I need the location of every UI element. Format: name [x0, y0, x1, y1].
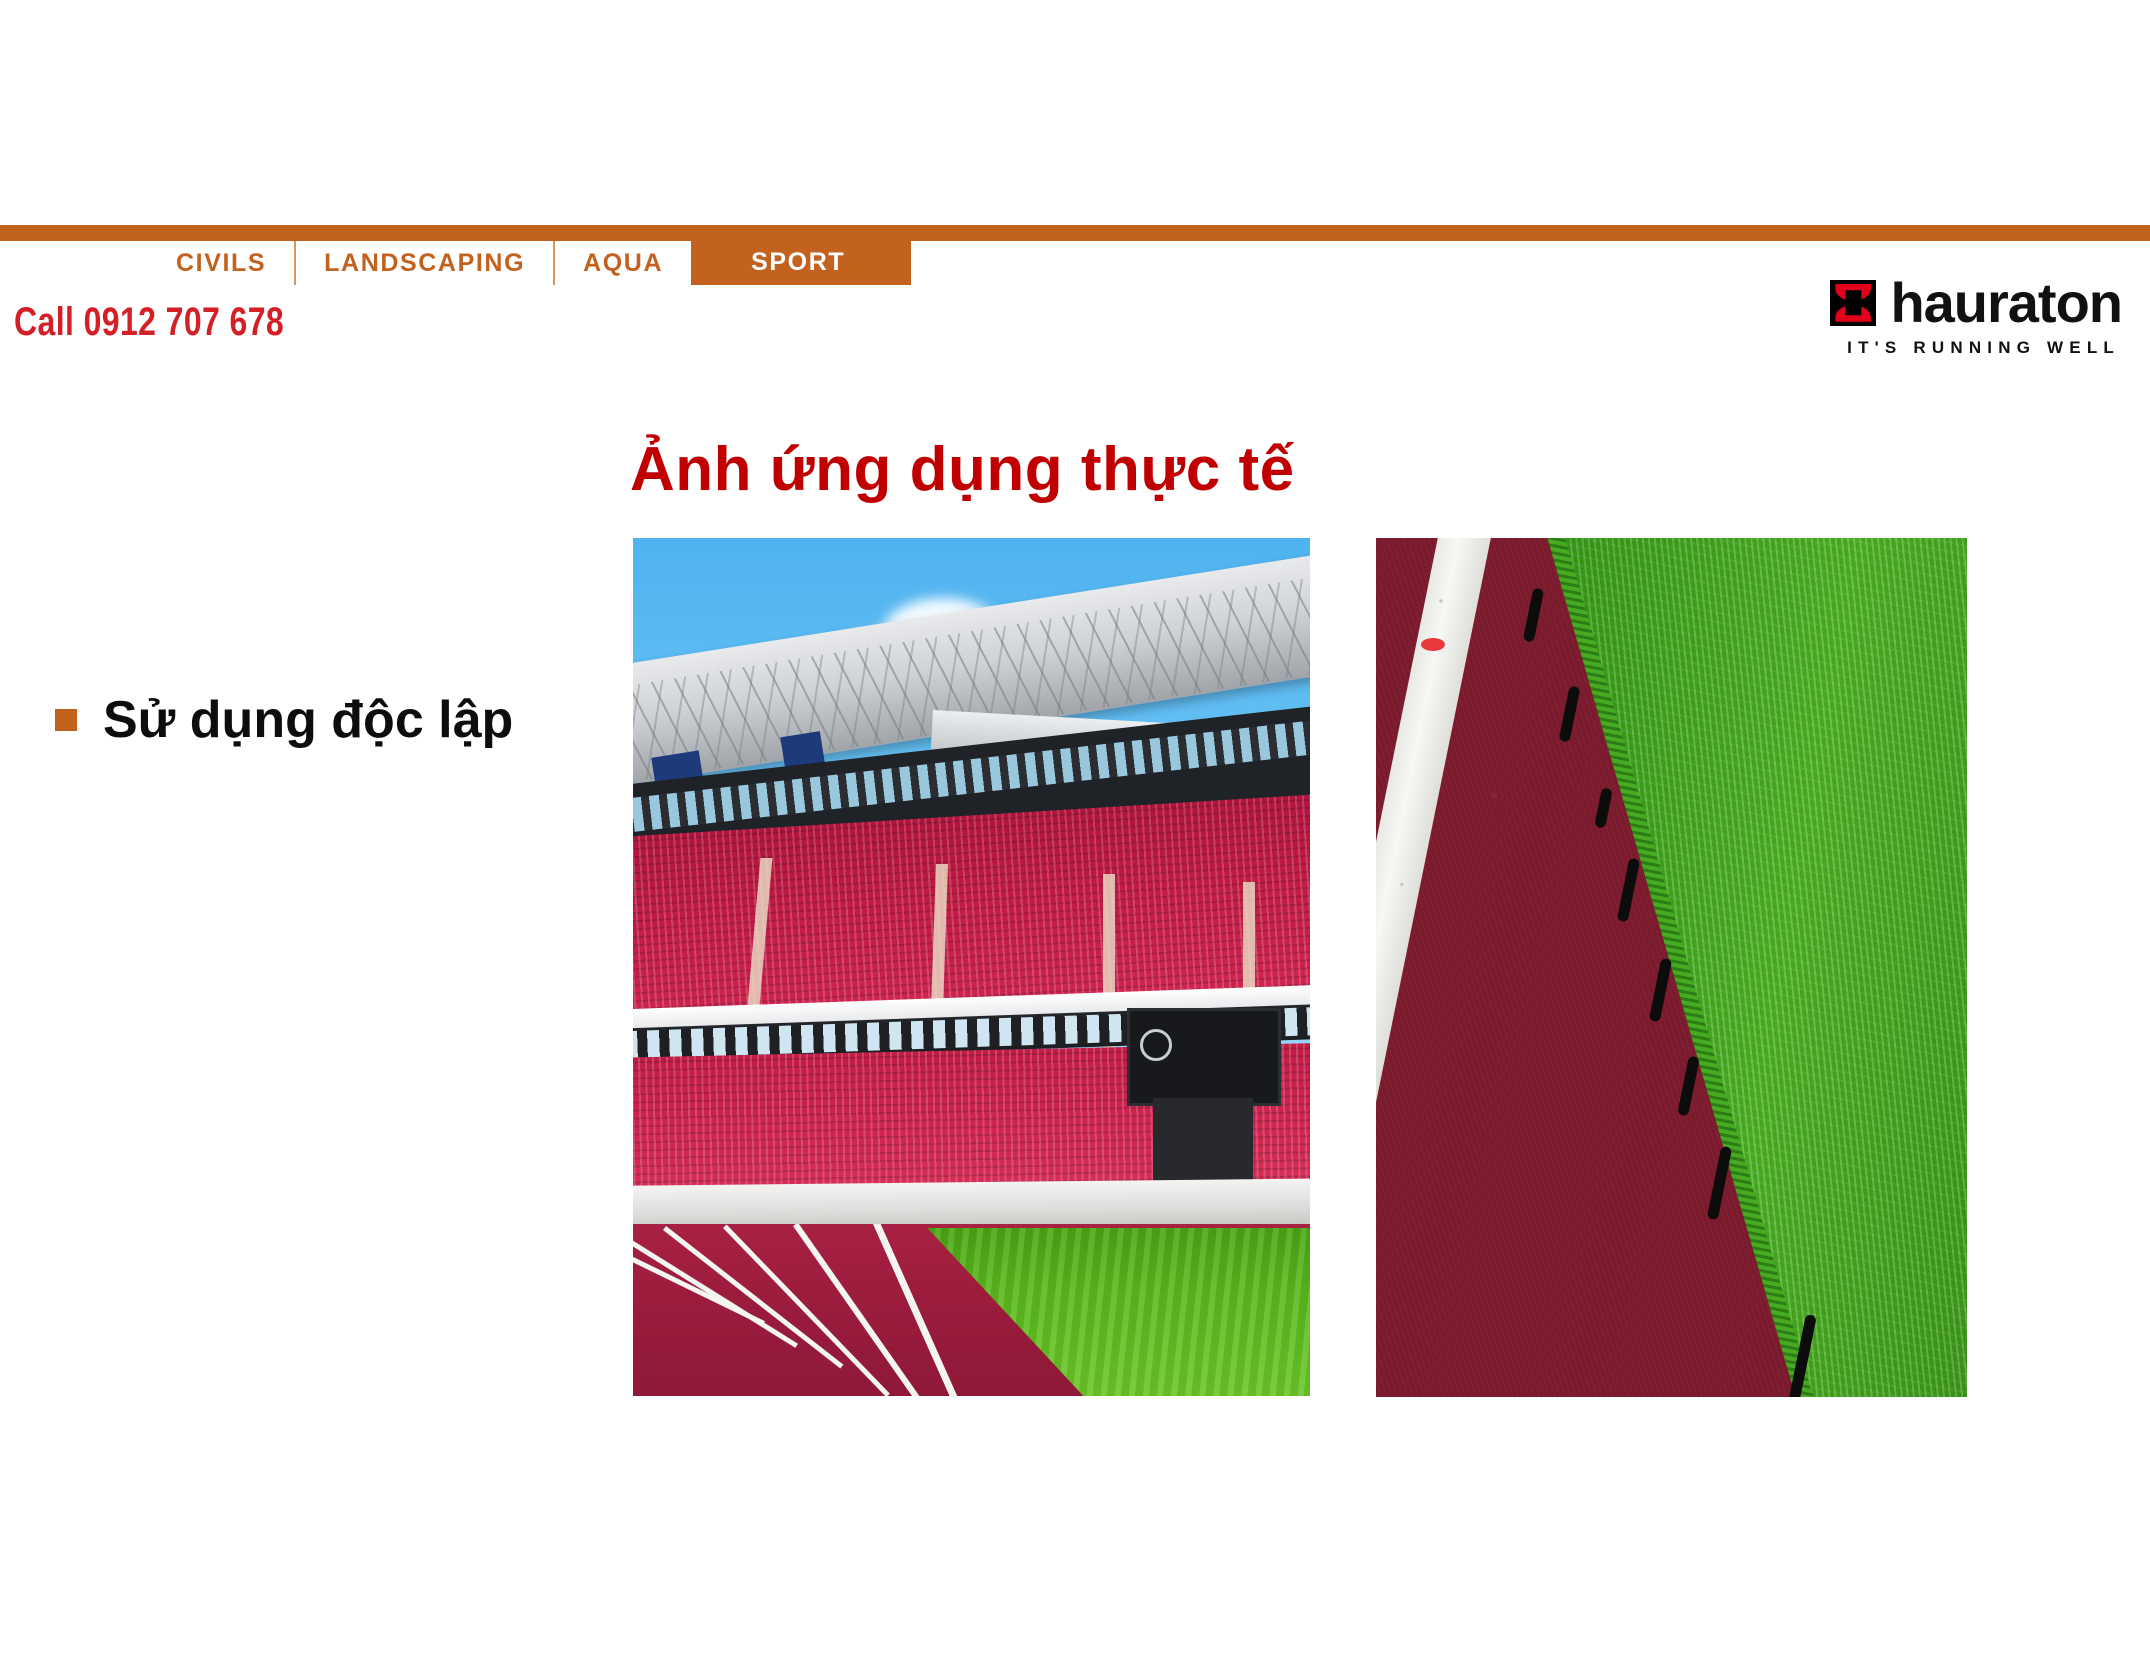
stadium-track-photo [633, 538, 1310, 1396]
slide-title: Ảnh ứng dụng thực tế [630, 434, 1550, 505]
square-bullet-icon [55, 709, 77, 731]
bullet-item: Sử dụng độc lập [55, 690, 513, 750]
logo-tagline: IT'S RUNNING WELL [1847, 338, 2120, 358]
nav-tab-landscaping[interactable]: LANDSCAPING [294, 241, 553, 285]
red-paint-mark [1421, 638, 1445, 651]
nav-tab-civils[interactable]: CIVILS [148, 241, 294, 285]
contact-phone-number[interactable]: Call 0912 707 678 [14, 300, 284, 345]
bullet-item-label: Sử dụng độc lập [103, 690, 513, 750]
nav-tab-sport[interactable]: SPORT [691, 225, 911, 285]
header-accent-bar [0, 225, 2150, 241]
hauraton-h-mark-icon [1830, 280, 1876, 326]
track-edge-drainage-photo [1376, 538, 1967, 1397]
scoreboard [1127, 1008, 1281, 1106]
logo-row: hauraton [1830, 277, 2122, 329]
nav-tab-aqua[interactable]: AQUA [553, 241, 691, 285]
nav-left-spacer [0, 241, 148, 285]
logo-wordmark: hauraton [1890, 277, 2122, 329]
hauraton-logo: hauraton IT'S RUNNING WELL [1830, 277, 2122, 358]
main-navigation[interactable]: CIVILS LANDSCAPING AQUA SPORT [0, 241, 911, 285]
